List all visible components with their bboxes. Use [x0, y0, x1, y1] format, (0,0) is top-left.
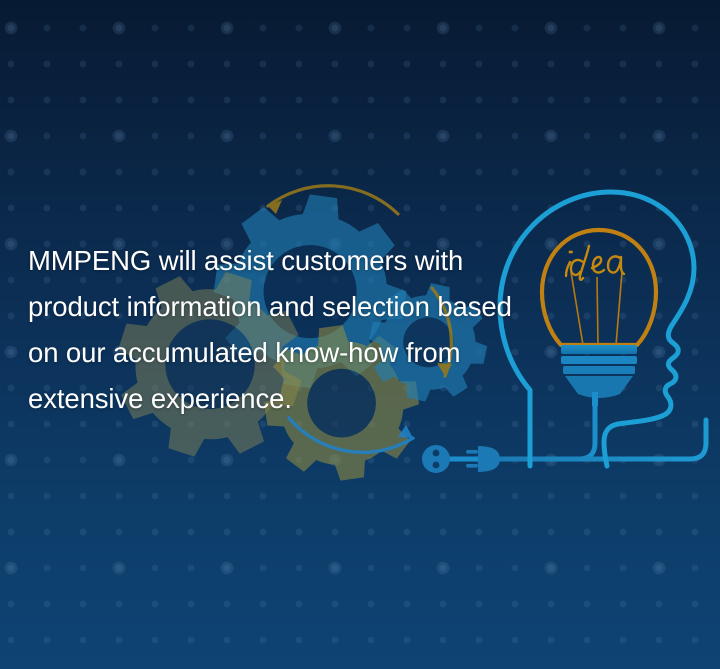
power-outlet-icon — [422, 445, 450, 473]
headline-text: MMPENG will assist customers with produc… — [28, 238, 538, 422]
promo-banner: MMPENG will assist customers with produc… — [0, 0, 720, 669]
lightbulb-icon — [542, 230, 656, 406]
idea-script-text — [566, 246, 624, 280]
